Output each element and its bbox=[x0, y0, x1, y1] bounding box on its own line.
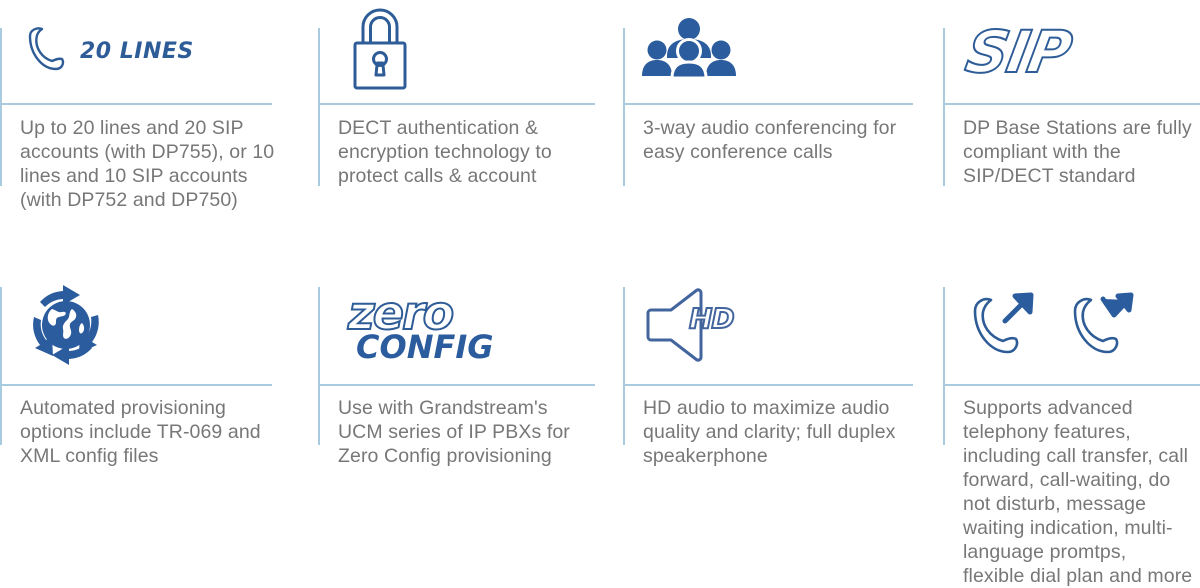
feature-card-dect-security: DECT authentication & encryption technol… bbox=[318, 0, 623, 270]
speaker-hd-icon: HD bbox=[645, 284, 763, 371]
vertical-rule bbox=[623, 28, 625, 186]
icon-area: SIP bbox=[967, 0, 1070, 103]
feature-row-1: 20 LINES Up to 20 lines and 20 SIP accou… bbox=[0, 0, 1200, 270]
icon-area bbox=[18, 270, 114, 384]
vertical-rule bbox=[623, 287, 625, 445]
vertical-rule bbox=[318, 287, 320, 445]
feature-description: DECT authentication & encryption technol… bbox=[338, 116, 586, 188]
feature-description: Up to 20 lines and 20 SIP accounts (with… bbox=[20, 116, 275, 212]
feature-description: DP Base Stations are fully compliant wit… bbox=[963, 116, 1193, 188]
vertical-rule bbox=[0, 28, 2, 186]
feature-card-provisioning: Automated provisioning options include T… bbox=[0, 270, 318, 559]
twenty-lines-label: 20 LINES bbox=[80, 39, 194, 64]
feature-card-sip-standard: SIP DP Base Stations are fully compliant… bbox=[943, 0, 1200, 270]
zero-config-wordmark-icon: zero CONFIG bbox=[348, 293, 494, 362]
horizontal-rule bbox=[943, 103, 1200, 105]
config-wordmark-label: CONFIG bbox=[356, 333, 494, 361]
feature-description: Supports advanced telephony features, in… bbox=[963, 396, 1193, 588]
icon-area bbox=[641, 0, 737, 103]
icon-area: 20 LINES bbox=[18, 0, 194, 103]
feature-card-telephony-features: Supports advanced telephony features, in… bbox=[943, 270, 1200, 559]
horizontal-rule bbox=[623, 384, 913, 386]
feature-description: HD audio to maximize audio quality and c… bbox=[643, 396, 908, 468]
vertical-rule bbox=[943, 287, 945, 445]
feature-card-twenty-lines: 20 LINES Up to 20 lines and 20 SIP accou… bbox=[0, 0, 318, 270]
feature-card-conferencing: 3-way audio conferencing for easy confer… bbox=[623, 0, 943, 270]
phone-handset-20-lines-icon bbox=[18, 22, 72, 81]
horizontal-rule bbox=[623, 103, 913, 105]
horizontal-rule bbox=[318, 384, 595, 386]
icon-area bbox=[967, 270, 1139, 384]
sip-wordmark-icon: SIP bbox=[962, 23, 1075, 81]
three-people-conference-icon bbox=[641, 18, 737, 85]
call-transfer-icon bbox=[967, 291, 1039, 364]
vertical-rule bbox=[318, 28, 320, 186]
icon-area: HD bbox=[645, 270, 763, 384]
vertical-rule bbox=[0, 287, 2, 445]
feature-description: Automated provisioning options include T… bbox=[20, 396, 275, 468]
call-transfer-forward-icon bbox=[967, 291, 1139, 364]
zero-wordmark-label: zero bbox=[348, 293, 452, 333]
feature-card-hd-audio: HD HD audio to maximize audio quality an… bbox=[623, 270, 943, 559]
vertical-rule bbox=[943, 28, 945, 186]
feature-row-2: Automated provisioning options include T… bbox=[0, 270, 1200, 559]
horizontal-rule bbox=[0, 103, 272, 105]
horizontal-rule bbox=[318, 103, 595, 105]
hd-label: HD bbox=[689, 302, 734, 335]
globe-sync-arrows-icon bbox=[18, 279, 114, 376]
icon-area: zero CONFIG bbox=[348, 270, 494, 384]
feature-description: Use with Grandstream's UCM series of IP … bbox=[338, 396, 586, 468]
horizontal-rule bbox=[0, 384, 272, 386]
feature-card-zero-config: zero CONFIG Use with Grandstream's UCM s… bbox=[318, 270, 623, 559]
icon-area bbox=[346, 0, 414, 103]
feature-description: 3-way audio conferencing for easy confer… bbox=[643, 116, 908, 164]
padlock-icon bbox=[346, 3, 414, 100]
feature-grid: 20 LINES Up to 20 lines and 20 SIP accou… bbox=[0, 0, 1200, 559]
horizontal-rule bbox=[943, 384, 1200, 386]
call-forward-icon bbox=[1067, 291, 1139, 364]
